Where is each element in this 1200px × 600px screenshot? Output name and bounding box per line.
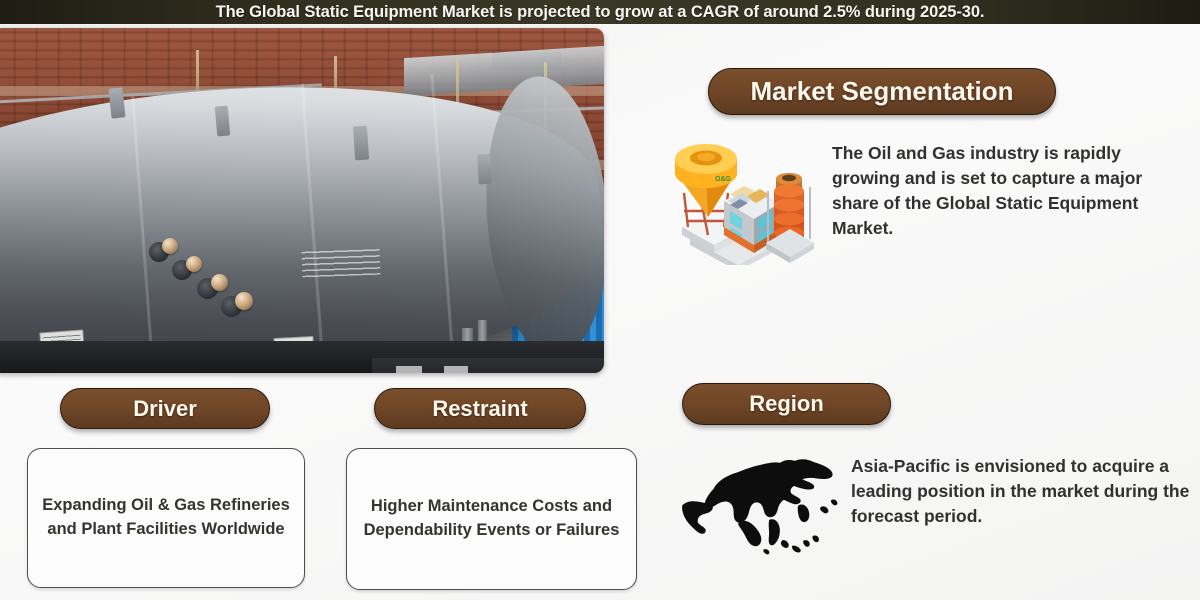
driver-description: Expanding Oil & Gas Refineries and Plant… bbox=[42, 494, 290, 542]
lifting-lug bbox=[477, 154, 492, 185]
industrial-pressure-vessel-photo bbox=[0, 28, 604, 373]
driver-card: Expanding Oil & Gas Refineries and Plant… bbox=[27, 448, 305, 588]
top-headline-banner: The Global Static Equipment Market is pr… bbox=[0, 0, 1200, 24]
region-description: Asia-Pacific is envisioned to acquire a … bbox=[851, 454, 1194, 529]
restraint-label: Restraint bbox=[432, 396, 527, 422]
trailer-marker bbox=[444, 366, 468, 373]
segmentation-description: The Oil and Gas industry is rapidly grow… bbox=[832, 141, 1193, 240]
vessel-weld-seam bbox=[430, 74, 455, 373]
lifting-lug bbox=[353, 126, 369, 161]
restraint-card: Higher Maintenance Costs and Dependabili… bbox=[346, 448, 637, 590]
market-segmentation-badge[interactable]: Market Segmentation bbox=[708, 68, 1056, 115]
headline-text: The Global Static Equipment Market is pr… bbox=[216, 3, 985, 22]
region-label: Region bbox=[749, 391, 824, 417]
lifting-lug bbox=[108, 87, 125, 118]
driver-label: Driver bbox=[133, 396, 197, 422]
industrial-plant-icon: O&G bbox=[668, 135, 818, 265]
vessel-nozzle bbox=[186, 256, 202, 272]
vessel-nozzle bbox=[211, 274, 228, 291]
vessel-stencil-marking bbox=[302, 249, 381, 278]
pressure-vessel-body bbox=[0, 63, 604, 373]
svg-text:O&G: O&G bbox=[715, 176, 732, 183]
region-badge[interactable]: Region bbox=[682, 383, 891, 425]
lifting-lug bbox=[215, 105, 231, 136]
trailer-marker bbox=[396, 366, 422, 373]
market-segmentation-label: Market Segmentation bbox=[751, 76, 1014, 107]
region-section: Asia-Pacific is envisioned to acquire a … bbox=[660, 448, 1194, 588]
restraint-description: Higher Maintenance Costs and Dependabili… bbox=[361, 495, 622, 543]
segmentation-section: O&G bbox=[668, 135, 1193, 270]
vessel-nozzle bbox=[162, 238, 178, 254]
restraint-badge[interactable]: Restraint bbox=[374, 388, 586, 429]
vessel-weld-seam bbox=[131, 96, 156, 373]
vessel-weld-seam bbox=[301, 84, 326, 373]
asia-map-icon bbox=[660, 448, 845, 568]
vessel-nozzle bbox=[235, 292, 253, 310]
photo-canvas bbox=[0, 28, 604, 373]
driver-badge[interactable]: Driver bbox=[60, 388, 270, 429]
